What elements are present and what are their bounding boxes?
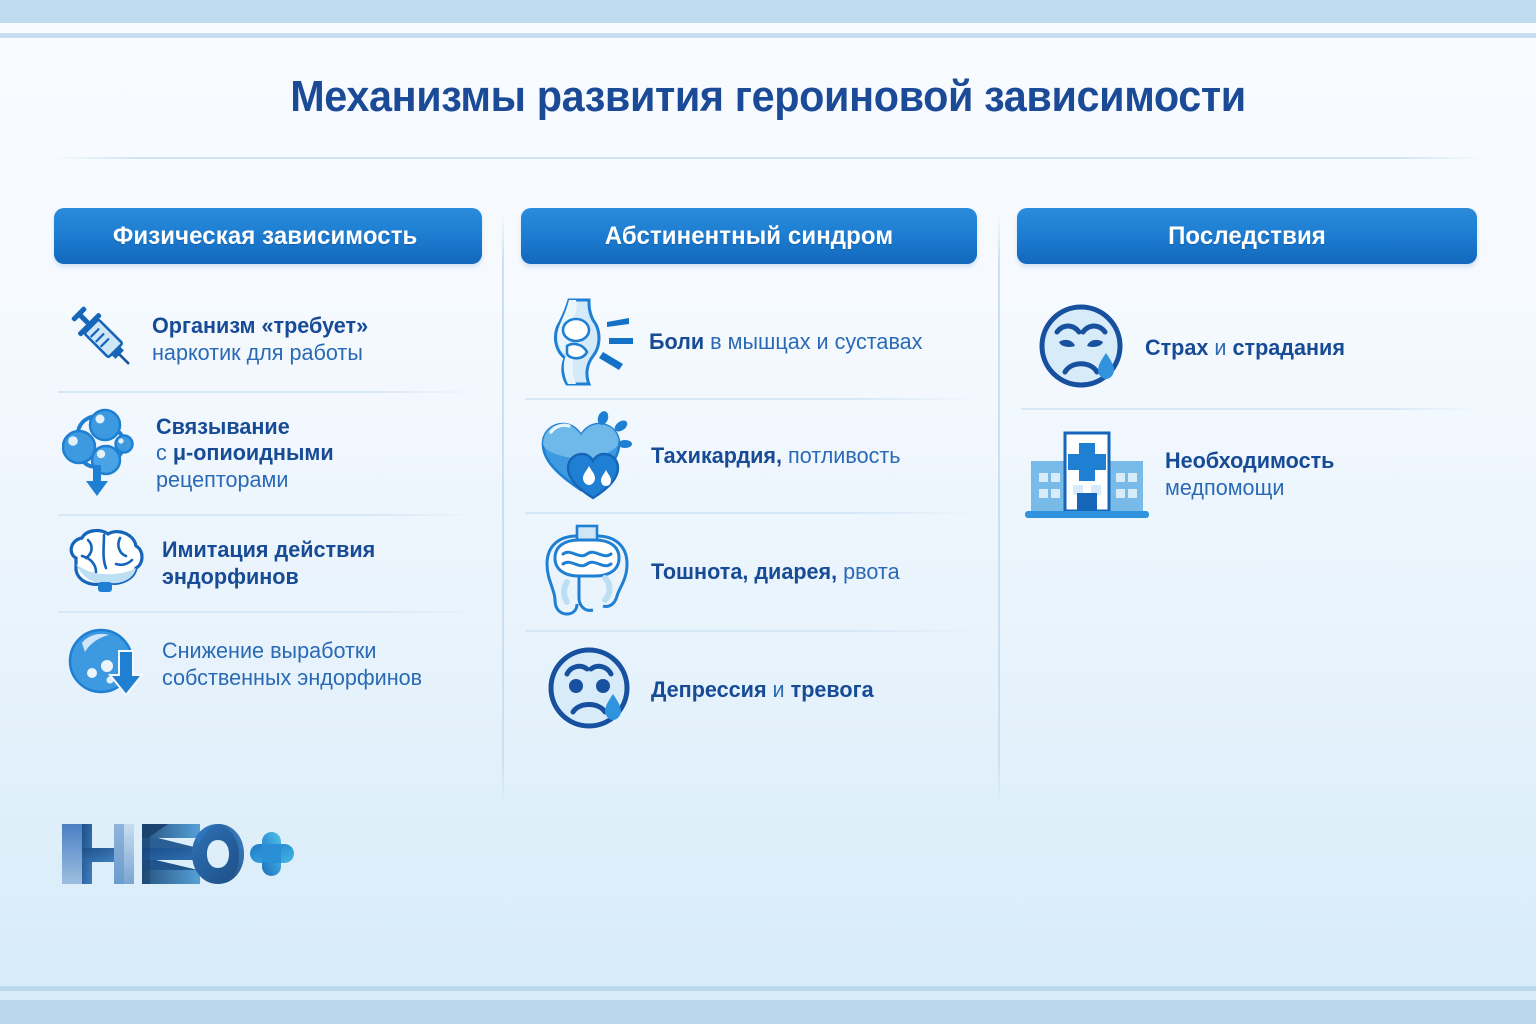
list-item-bold: Боли (649, 329, 704, 354)
list-item-text: Тошнота, диарея, рвота (651, 559, 900, 586)
list-item-bold: Тахикардия, (651, 443, 782, 468)
list-item[interactable]: Имитация действия эндорфинов (54, 516, 484, 611)
list-item[interactable]: Депрессия и тревога (521, 632, 981, 748)
list-item[interactable]: Организм «требует» наркотик для работы (54, 288, 484, 391)
list-item-regular: рвота (837, 559, 899, 584)
brand-logo (58, 818, 296, 895)
top-accent-line (0, 33, 1536, 38)
list-item-line-1: Организм «требует» (152, 313, 368, 338)
syringe-icon (66, 298, 138, 381)
list-item[interactable]: Тахикардия, потливость (521, 400, 981, 512)
column-header-label: Последствия (1026, 222, 1468, 251)
list-item-bold-2: тревога (791, 677, 874, 702)
neo-plus-logo-icon (58, 818, 296, 890)
column-divider-2 (998, 214, 1000, 808)
infographic-poster: Механизмы развития героиновой зависимост… (0, 0, 1536, 1024)
list-item-line-1: Связывание (156, 414, 290, 439)
list-item-text: Страх и страдания (1145, 335, 1345, 362)
list-item-line-2: собственных эндорфинов (162, 665, 422, 690)
column-divider-1 (502, 214, 504, 808)
top-decorative-band (0, 0, 1536, 23)
column-consequences: Последствия Страх и страдани (1017, 208, 1479, 540)
list-item-line-1: Имитация действия (162, 537, 375, 562)
list-item-regular: и (1208, 335, 1232, 360)
list-item-bold-2: страдания (1232, 335, 1344, 360)
column-header-label: Абстинентный синдром (530, 222, 968, 251)
list-item-line-1: Необходимость (1165, 448, 1334, 473)
column-header-physical-dependence[interactable]: Физическая зависимость (54, 208, 482, 264)
title-divider (52, 157, 1484, 159)
list-item-line-2: наркотик для работы (152, 340, 363, 365)
bottom-decorative-band (0, 1000, 1536, 1024)
list-item[interactable]: Необходимость медпомощи (1017, 410, 1479, 540)
list-item-text: Снижение выработки собственных эндорфино… (162, 638, 422, 691)
opioid-receptor-molecule-icon (62, 403, 142, 504)
list-item-regular: потливость (782, 443, 901, 468)
list-item-regular: и (767, 677, 791, 702)
list-item-bold: Депрессия (651, 677, 767, 702)
brain-icon (62, 526, 148, 601)
hospital-icon (1023, 423, 1151, 528)
list-item-text: Имитация действия эндорфинов (162, 537, 375, 590)
suffering-face-icon (1035, 298, 1131, 399)
sad-face-tear-icon (545, 642, 637, 739)
list-item[interactable]: Связывание с μ-опиоидными рецепторами (54, 393, 484, 514)
list-item-text: Организм «требует» наркотик для работы (152, 313, 368, 366)
list-item-text: Депрессия и тревога (651, 677, 874, 704)
list-item-line-3: рецепторами (156, 467, 288, 492)
list-item-line-2: эндорфинов (162, 564, 299, 589)
bottom-accent-line (0, 986, 1536, 991)
list-item-line-1: Снижение выработки (162, 638, 376, 663)
heart-sweat-icon (537, 408, 637, 505)
list-item-text: Тахикардия, потливость (651, 443, 901, 470)
list-item-text: Боли в мышцах и суставах (649, 329, 922, 356)
list-item-line-2-bold: μ-опиоидными (173, 440, 334, 465)
page-title: Механизмы развития героиновой зависимост… (46, 72, 1490, 122)
list-item-text: Необходимость медпомощи (1165, 448, 1334, 501)
list-item-line-2-prefix: с (156, 440, 173, 465)
list-item-line-2: медпомощи (1165, 475, 1284, 500)
list-item-text: Связывание с μ-опиоидными рецепторами (156, 414, 334, 494)
list-item-regular: в мышцах и суставах (704, 329, 922, 354)
list-item-bold: Тошнота, диарея, (651, 559, 837, 584)
column-header-label: Физическая зависимость (63, 222, 474, 251)
column-withdrawal-syndrome: Абстинентный синдром (521, 208, 981, 748)
list-item-bold: Страх (1145, 335, 1208, 360)
list-item[interactable]: Снижение выработки собственных эндорфино… (54, 613, 484, 716)
column-header-withdrawal-syndrome[interactable]: Абстинентный синдром (521, 208, 977, 264)
joint-pain-icon (543, 294, 635, 391)
list-item[interactable]: Страх и страдания (1017, 288, 1479, 408)
column-header-consequences[interactable]: Последствия (1017, 208, 1477, 264)
endorphin-decrease-icon (66, 623, 148, 706)
list-item[interactable]: Тошнота, диарея, рвота (521, 514, 981, 630)
columns-container: Физическая зависимость (0, 208, 1536, 808)
intestines-icon (537, 522, 637, 623)
list-item[interactable]: Боли в мышцах и суставах (521, 286, 981, 398)
column-physical-dependence: Физическая зависимость (54, 208, 484, 716)
